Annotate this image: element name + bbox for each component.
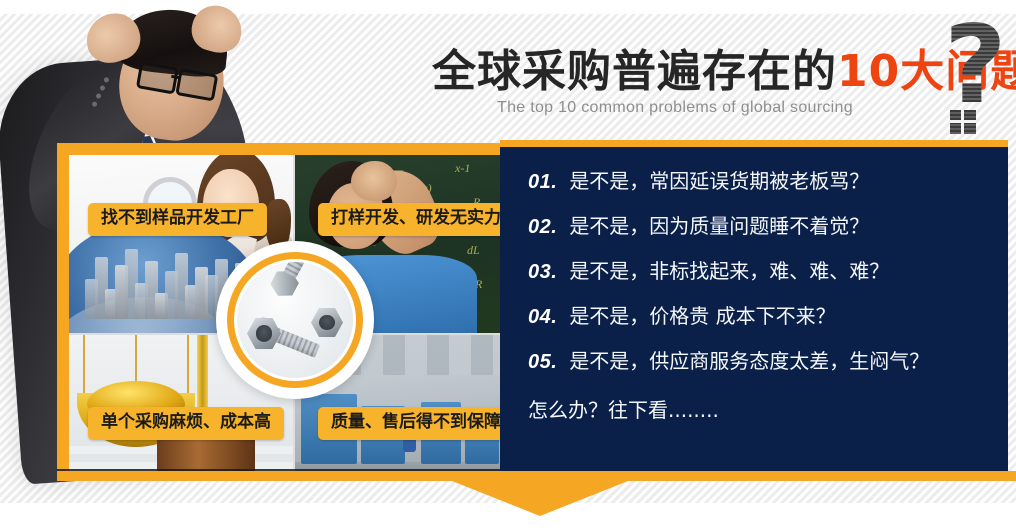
problem-number: 01.	[528, 171, 557, 194]
center-badge-bolts	[216, 241, 374, 399]
problem-text: 是不是，因为质量问题睡不着觉？	[569, 214, 869, 238]
problem-number: 05.	[528, 351, 557, 374]
scale-chain-left	[83, 335, 85, 395]
footer-orange-band	[57, 471, 1016, 481]
problem-number: 04.	[528, 306, 557, 329]
problem-text: 是不是，非标找起来，难、难、难？	[569, 259, 889, 283]
problems-footer-text: 怎么办？往下看........	[528, 394, 998, 423]
poster-canvas: 全球采购普遍存在的10大问题 The top 10 common problem…	[0, 0, 1016, 531]
page-title: 全球采购普遍存在的10大问题	[432, 50, 1016, 94]
background-bottom-strip	[0, 503, 1016, 531]
badge-photo-bolts	[237, 262, 353, 378]
nut-right	[311, 308, 343, 337]
problem-row: 03.是不是，非标找起来，难、难、难？	[528, 259, 998, 284]
question-mark-glyph: ?	[944, 12, 1007, 120]
problems-list-panel: 01.是不是，常因延误货期被老板骂？02.是不是，因为质量问题睡不着觉？03.是…	[500, 140, 1008, 478]
problems-list: 01.是不是，常因延误货期被老板骂？02.是不是，因为质量问题睡不着觉？03.是…	[528, 169, 998, 423]
problem-text: 是不是，常因延误货期被老板骂？	[569, 169, 869, 193]
problem-row: 04.是不是，价格贵 成本下不来？	[528, 304, 998, 329]
question-mark-dot	[950, 110, 976, 134]
problem-row: 01.是不是，常因延误货期被老板骂？	[528, 169, 998, 194]
scale-chain-right	[187, 335, 189, 395]
tag-find-factory: 找不到样品开发工厂	[88, 203, 267, 236]
problem-number: 03.	[528, 261, 557, 284]
tag-single-purchase: 单个采购麻烦、成本高	[88, 407, 284, 440]
page-subtitle: The top 10 common problems of global sou…	[497, 99, 853, 117]
problem-text: 是不是，供应商服务态度太差，生闷气？	[569, 349, 929, 373]
problem-number: 02.	[528, 216, 557, 239]
problem-row: 02.是不是，因为质量问题睡不着觉？	[528, 214, 998, 239]
boy-hand-scratching-head	[351, 161, 397, 201]
problem-text: 是不是，价格贵 成本下不来？	[569, 304, 835, 328]
question-mark-icon: ?	[944, 26, 1010, 134]
nut-left	[247, 318, 281, 349]
page-title-main: 全球采购普遍存在的	[432, 46, 837, 97]
tag-rnd-weak: 打样开发、研发无实力	[318, 203, 514, 236]
problem-row: 05.是不是，供应商服务态度太差，生闷气？	[528, 349, 998, 374]
tag-quality-service: 质量、售后得不到保障	[318, 407, 514, 440]
